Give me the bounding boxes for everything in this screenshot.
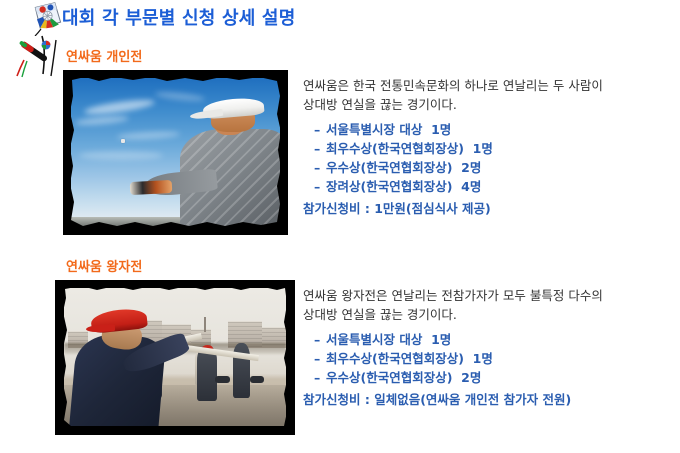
description-line: 연싸움 왕자전은 연날리는 전참가자가 모두 불특정 다수의 <box>303 286 679 305</box>
description-line: 연싸움은 한국 전통민속문화의 하나로 연날리는 두 사람이 <box>303 76 679 95</box>
section-text-individual: 연싸움은 한국 전통민속문화의 하나로 연날리는 두 사람이 상대방 연실을 끊… <box>303 76 679 218</box>
award-count: 1명 <box>473 141 493 156</box>
page-header: 대회 각 부문별 신청 상세 설명 <box>0 0 680 36</box>
award-dash: – <box>314 158 326 177</box>
award-item: –최우수상(한국연협회장상) 1명 <box>303 349 679 368</box>
tower <box>204 317 206 332</box>
award-dash: – <box>314 349 326 368</box>
kite-battle-photo <box>55 280 295 435</box>
section-text-championship: 연싸움 왕자전은 연날리는 전참가자가 모두 불특정 다수의 상대방 연실을 끊… <box>303 286 679 409</box>
award-item: –최우수상(한국연협회장상) 1명 <box>303 139 679 158</box>
description-line: 상대방 연실을 끊는 경기이다. <box>303 95 679 114</box>
award-label: 최우수상(한국연협회장상) <box>326 141 464 156</box>
kite-flyer-photo <box>63 70 288 235</box>
award-label: 최우수상(한국연협회장상) <box>326 351 464 366</box>
kite-battle-photo-image <box>64 288 286 426</box>
equipment-bag <box>250 376 263 383</box>
award-item: –우수상(한국연협회장상) 2명 <box>303 368 679 387</box>
section-heading-individual: 연싸움 개인전 <box>66 46 142 65</box>
award-count: 1명 <box>473 351 493 366</box>
award-count: 1명 <box>431 122 451 137</box>
fee-line: 참가신청비 : 1만원(점심식사 제공) <box>303 199 679 218</box>
award-dash: – <box>314 120 326 139</box>
cloud <box>79 151 163 160</box>
page-title: 대회 각 부문별 신청 상세 설명 <box>62 4 295 30</box>
distant-kite <box>121 139 125 143</box>
award-dash: – <box>314 139 326 158</box>
award-item: –우수상(한국연협회장상) 2명 <box>303 158 679 177</box>
kite-streamer-icon <box>12 30 64 80</box>
kite-flyer-photo-image <box>71 78 280 227</box>
award-count: 4명 <box>461 179 481 194</box>
award-count: 1명 <box>431 332 451 347</box>
award-dash: – <box>314 177 326 196</box>
award-dash: – <box>314 330 326 349</box>
description-line: 상대방 연실을 끊는 경기이다. <box>303 305 679 324</box>
award-count: 2명 <box>461 160 481 175</box>
award-list: –서울특별시장 대상 1명 –최우수상(한국연협회장상) 1명 –우수상(한국연… <box>303 330 679 387</box>
award-item: –서울특별시장 대상 1명 <box>303 330 679 349</box>
kite-flyer-reel <box>129 180 171 196</box>
award-label: 장려상(한국연협회장상) <box>326 179 452 194</box>
award-item: –서울특별시장 대상 1명 <box>303 120 679 139</box>
award-count: 2명 <box>461 370 481 385</box>
award-label: 우수상(한국연협회장상) <box>326 370 452 385</box>
award-label: 서울특별시장 대상 <box>326 332 422 347</box>
section-heading-championship: 연싸움 왕자전 <box>66 256 142 275</box>
fee-line: 참가신청비 : 일체없음(연싸움 개인전 참가자 전원) <box>303 390 679 409</box>
award-label: 우수상(한국연협회장상) <box>326 160 452 175</box>
equipment-bag <box>215 376 231 383</box>
award-list: –서울특별시장 대상 1명 –최우수상(한국연협회장상) 1명 –우수상(한국연… <box>303 120 679 196</box>
award-label: 서울특별시장 대상 <box>326 122 422 137</box>
award-item: –장려상(한국연협회장상) 4명 <box>303 177 679 196</box>
award-dash: – <box>314 368 326 387</box>
